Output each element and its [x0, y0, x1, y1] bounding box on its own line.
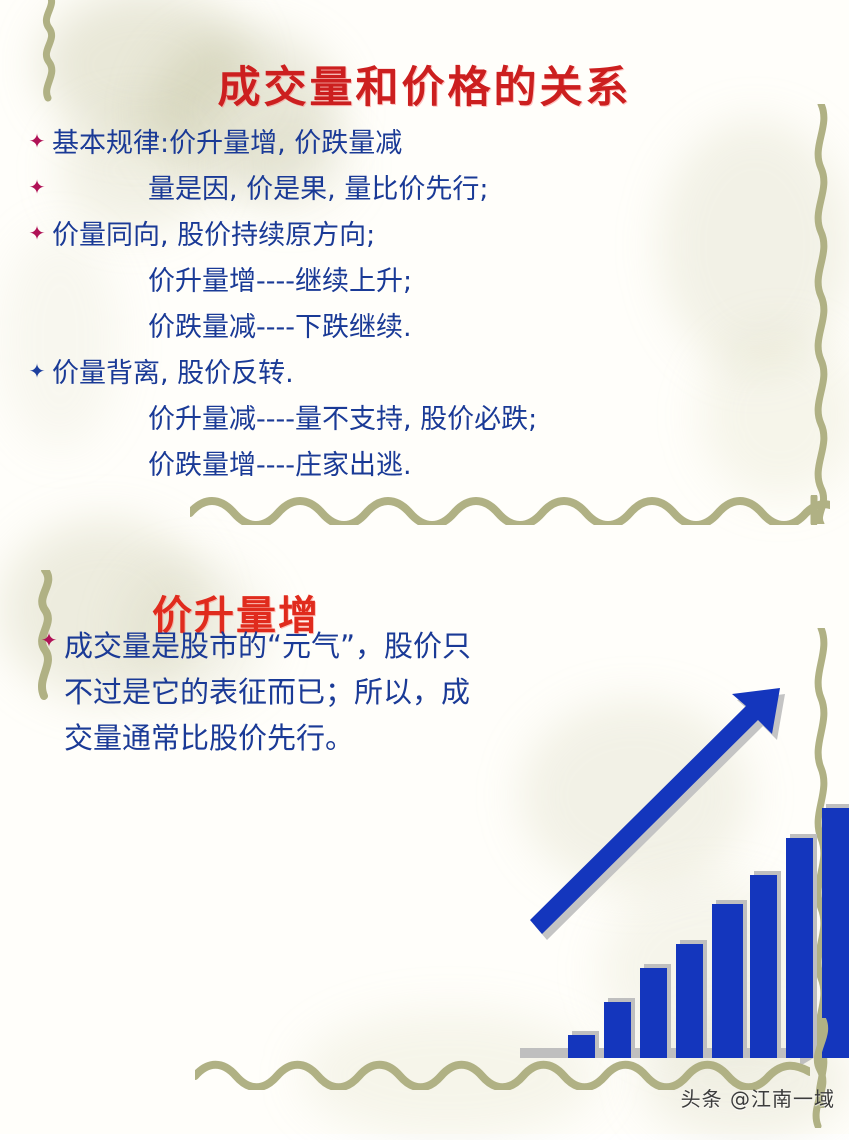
list-item-label: 价跌量增----庄家出逃. [52, 446, 412, 486]
list-item: ✦ 价量同向, 股价持续原方向; [0, 216, 760, 262]
list-item: ✦ 基本规律:价升量增, 价跌量减 [0, 124, 760, 170]
bar-4 [676, 944, 703, 1058]
list-item-label: 价升量增----继续上升; [52, 262, 412, 302]
source-watermark: 头条 @江南一域 [681, 1083, 835, 1112]
diamond-bullet-icon: ✦ [22, 354, 52, 388]
list-item: ✦ 量是因, 价是果, 量比价先行; [0, 170, 760, 216]
bar-3 [640, 968, 667, 1058]
slide-1: 成交量和价格的关系 ✦ 基本规律:价升量增, 价跌量减 ✦ 量是因, 价是果, … [0, 0, 849, 528]
list-item-label: 基本规律:价升量增, 价跌量减 [52, 124, 402, 164]
slide-2-body: ✦ 成交量是股市的“元气”，股价只不过是它的表征而已；所以，成交量通常比股价先行… [28, 623, 498, 761]
trend-arrow-icon [530, 688, 780, 934]
list-item-label: 价量同向, 股价持续原方向; [52, 216, 375, 256]
diamond-bullet-icon: ✦ [22, 124, 52, 158]
slide-2: 价升量增 ✦ 成交量是股市的“元气”，股价只不过是它的表征而已；所以，成交量通常… [0, 528, 849, 1134]
page-title: 成交量和价格的关系 [0, 53, 849, 115]
diamond-bullet-icon: ✦ [22, 216, 52, 250]
list-item: ✦ 价量背离, 股价反转. [0, 354, 760, 400]
list-item: ✦ 价升量减----量不支持, 股价必跌; [0, 400, 760, 446]
list-item: ✦ 价升量增----继续上升; [0, 262, 760, 308]
bar-2 [604, 1002, 631, 1058]
right-border-decoration [806, 104, 836, 524]
slide-1-bottom-divider [190, 495, 830, 525]
list-item-label: 量是因, 价是果, 量比价先行; [52, 170, 488, 210]
list-item: ✦ 价跌量减----下跌继续. [0, 308, 760, 354]
list-item: ✦ 价跌量增----庄家出逃. [0, 446, 760, 492]
bar-1 [568, 1035, 595, 1058]
growth-bar-chart [500, 668, 849, 1088]
diamond-bullet-icon: ✦ [22, 170, 52, 204]
bar-5 [712, 904, 743, 1058]
list-item-label: 价量背离, 股价反转. [52, 354, 294, 394]
bar-6 [750, 875, 777, 1058]
list-item-label: 价跌量减----下跌继续. [52, 308, 412, 348]
diamond-bullet-icon: ✦ [34, 623, 64, 761]
bullet-list: ✦ 基本规律:价升量增, 价跌量减 ✦ 量是因, 价是果, 量比价先行; ✦ 价… [0, 124, 760, 492]
list-item-label: 价升量减----量不支持, 股价必跌; [52, 400, 537, 440]
slide-page: 成交量和价格的关系 ✦ 基本规律:价升量增, 价跌量减 ✦ 量是因, 价是果, … [0, 0, 849, 1134]
slide-2-body-text: 成交量是股市的“元气”，股价只不过是它的表征而已；所以，成交量通常比股价先行。 [64, 623, 498, 761]
